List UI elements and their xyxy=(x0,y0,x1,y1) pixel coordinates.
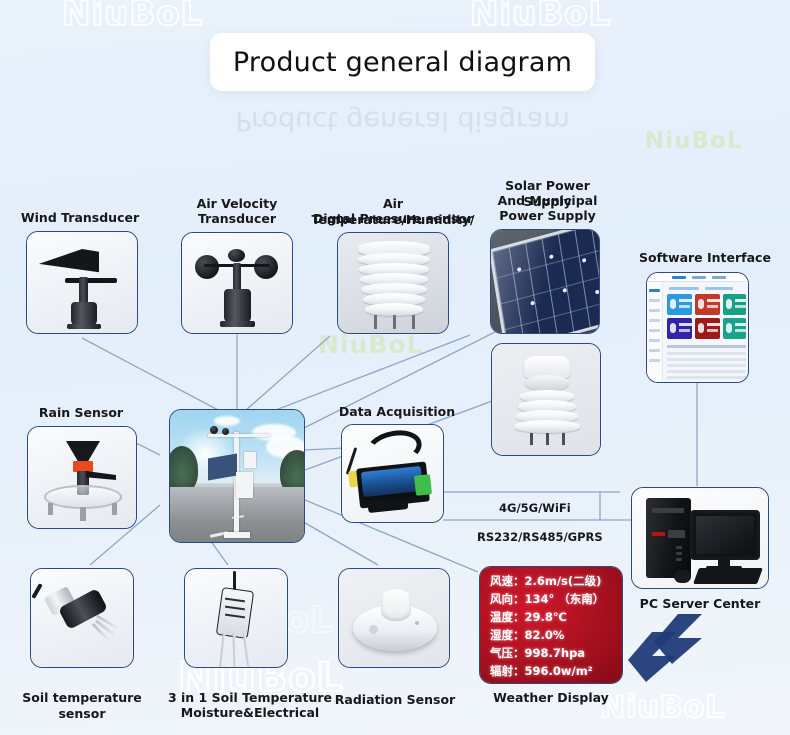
wind-vane-foot xyxy=(67,324,101,329)
label-pc-server: PC Server Center xyxy=(625,596,775,612)
display-value-wind-direction: 134° （东南） xyxy=(525,592,605,606)
display-row-pressure: 气压：998.7hpa xyxy=(490,645,585,661)
software-sidebar-item[interactable] xyxy=(649,289,660,292)
soil-3in1-housing xyxy=(216,587,254,639)
card-software-interface[interactable] xyxy=(646,272,749,383)
display-label-radiation: 辐射： xyxy=(490,664,525,678)
software-sidebar-item[interactable] xyxy=(649,309,660,312)
software-filter-bar[interactable] xyxy=(705,287,733,290)
software-tab[interactable] xyxy=(712,276,726,279)
wind-vane-arm xyxy=(65,278,117,283)
label-software-interface: Software Interface xyxy=(630,250,780,266)
pc-keyboard xyxy=(693,568,763,584)
label-soil-3in1-1: 3 in 1 Soil Temperature xyxy=(160,690,340,706)
display-label-pressure: 气压： xyxy=(490,646,525,660)
solar-panel-surface xyxy=(490,229,600,334)
display-row-wind-direction: 风向：134° （东南） xyxy=(490,591,604,607)
software-sidebar-item[interactable] xyxy=(649,299,660,302)
software-sidebar-item[interactable] xyxy=(649,339,660,342)
display-row-humidity: 湿度：82.0% xyxy=(490,627,564,643)
ultrasonic-pin xyxy=(546,433,549,445)
display-value-wind-speed: 2.6m/s(二级) xyxy=(525,574,602,588)
software-tab[interactable] xyxy=(692,276,706,279)
label-wired-protocols: RS232/RS485/GPRS xyxy=(477,530,603,544)
shield-pin xyxy=(412,315,415,329)
label-wireless-protocols: 4G/5G/WiFi xyxy=(499,501,571,515)
label-data-acquisition: Data Acquisition xyxy=(330,404,464,420)
station-sensor-head xyxy=(244,452,256,468)
shield-pin xyxy=(393,315,396,329)
wind-vane-post xyxy=(79,277,88,305)
card-air-velocity[interactable] xyxy=(181,232,293,334)
software-table-row xyxy=(667,376,746,379)
card-rain-sensor[interactable] xyxy=(27,426,137,529)
anemometer-cup-left xyxy=(195,255,219,279)
station-solar-panel xyxy=(208,453,237,480)
radiation-dome-cap xyxy=(381,589,411,621)
software-metric-card[interactable] xyxy=(723,294,746,315)
label-air-temp-2: Digtal Pressure sensor xyxy=(310,211,476,227)
label-soil-3in1-2: Moisture&Electrical xyxy=(160,705,340,721)
software-metric-card[interactable] xyxy=(667,318,692,339)
display-value-humidity: 82.0% xyxy=(525,628,565,642)
page-title: Product general diagram xyxy=(233,47,572,78)
software-table-header xyxy=(667,345,746,348)
anemometer-cup-right xyxy=(254,255,278,279)
display-label-wind-speed: 风速： xyxy=(490,574,525,588)
card-weather-station[interactable] xyxy=(169,409,305,543)
card-soil-3in1[interactable] xyxy=(184,568,288,668)
card-data-acquisition[interactable] xyxy=(341,424,444,523)
pc-port xyxy=(676,552,682,555)
display-label-wind-direction: 风向： xyxy=(490,592,525,606)
pc-brand-badge xyxy=(652,532,665,536)
station-anemometer-cup xyxy=(222,428,229,435)
ultrasonic-pin xyxy=(562,433,565,445)
ultrasonic-pin xyxy=(530,433,533,445)
card-soil-temperature[interactable] xyxy=(30,568,134,668)
label-air-velocity-2: Transducer xyxy=(167,211,307,227)
pc-port xyxy=(676,546,682,549)
cloud xyxy=(214,416,240,426)
card-wind-transducer[interactable] xyxy=(26,231,138,334)
display-row-temperature: 温度：29.8℃ xyxy=(490,609,567,625)
display-value-pressure: 998.7hpa xyxy=(525,646,586,660)
anemometer-cup-top xyxy=(228,249,245,262)
page-title-card: Product general diagram xyxy=(210,33,595,91)
diagram-canvas: NiuBoL NiuBoL NiuBoL NiuBoL NiuBoL NiuBo… xyxy=(0,0,790,735)
display-label-humidity: 湿度： xyxy=(490,628,525,642)
label-air-velocity-1: Air Velocity xyxy=(167,196,307,212)
card-weather-display[interactable]: 风速：2.6m/s(二级) 风向：134° （东南） 温度：29.8℃ 湿度：8… xyxy=(479,566,623,684)
wind-vane-base xyxy=(71,302,97,326)
label-wind-transducer: Wind Transducer xyxy=(10,210,150,226)
rain-sensor-foot xyxy=(112,503,117,515)
card-solar-panel[interactable] xyxy=(490,229,600,334)
card-radiation-sensor[interactable] xyxy=(338,568,450,668)
display-value-temperature: 29.8℃ xyxy=(525,610,567,624)
rain-sensor-foot xyxy=(80,507,86,521)
software-table-row xyxy=(667,364,746,367)
software-metric-card[interactable] xyxy=(695,294,720,315)
software-table-row xyxy=(667,358,746,361)
station-footing xyxy=(224,532,250,538)
display-value-radiation: 596.0w/m² xyxy=(525,664,593,678)
software-table-row xyxy=(667,370,746,373)
software-table-row xyxy=(667,352,746,355)
software-sidebar-item[interactable] xyxy=(649,349,660,352)
label-solar-3: Power Supply xyxy=(480,208,615,224)
software-sidebar-item[interactable] xyxy=(649,359,660,362)
software-filter-bar[interactable] xyxy=(669,287,699,290)
device-terminal-block xyxy=(414,474,432,496)
pc-port xyxy=(676,558,682,561)
pc-front-panel xyxy=(668,530,685,538)
anemometer-base xyxy=(224,289,251,323)
rain-sensor-foot xyxy=(48,503,53,515)
label-rain-sensor: Rain Sensor xyxy=(22,405,140,421)
card-air-temp-humidity[interactable] xyxy=(337,232,449,334)
pc-mouse xyxy=(674,570,691,583)
station-enclosure xyxy=(236,472,253,498)
tree xyxy=(169,446,198,492)
display-row-wind-speed: 风速：2.6m/s(二级) xyxy=(490,573,601,589)
ultrasonic-louvre xyxy=(514,420,580,433)
pc-optical-drive xyxy=(652,508,684,513)
pc-monitor xyxy=(690,510,760,560)
station-anemometer-cup xyxy=(210,426,218,434)
label-weather-display: Weather Display xyxy=(480,690,622,706)
ultrasonic-window xyxy=(525,375,569,391)
label-soil-temperature: Soil temperature sensor xyxy=(4,690,160,721)
software-sidebar-item[interactable] xyxy=(649,319,660,322)
software-metric-card[interactable] xyxy=(695,318,720,339)
software-tab[interactable] xyxy=(672,276,686,279)
station-crossarm xyxy=(208,434,270,437)
display-label-temperature: 温度： xyxy=(490,610,525,624)
software-metric-card[interactable] xyxy=(723,318,746,339)
radiation-bubble-level xyxy=(369,625,378,634)
display-row-radiation: 辐射：596.0w/m² xyxy=(490,663,593,679)
software-sidebar xyxy=(647,282,663,382)
radiation-screw xyxy=(415,621,419,625)
label-solar-2: And Municipal xyxy=(480,193,615,209)
software-metric-card[interactable] xyxy=(667,294,692,315)
card-pc-server[interactable] xyxy=(631,487,769,589)
shield-pin xyxy=(374,315,377,329)
rain-sensor-ring xyxy=(44,485,122,509)
software-sidebar-item[interactable] xyxy=(649,329,660,332)
anemometer-foot xyxy=(220,321,255,327)
card-ultrasonic-sensor[interactable] xyxy=(491,343,601,456)
label-radiation-sensor: Radiation Sensor xyxy=(330,692,460,708)
